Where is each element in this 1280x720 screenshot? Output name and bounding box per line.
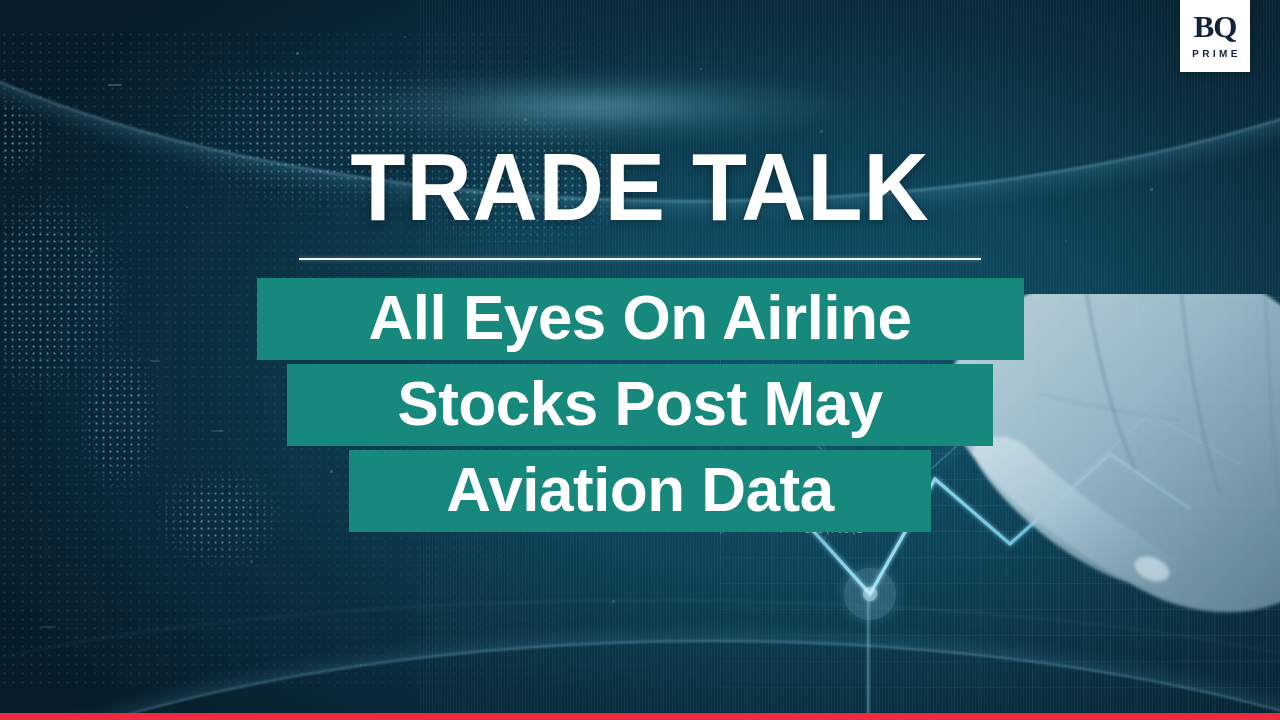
headline-line-3: Aviation Data <box>349 450 931 532</box>
headline-line-2: Stocks Post May <box>287 364 993 446</box>
headline-line-1: All Eyes On Airline <box>257 278 1024 360</box>
bq-prime-logo-subtext: PRIME <box>1192 49 1241 61</box>
bq-prime-logo-mark: BQ <box>1194 12 1237 42</box>
glow-arc-top-highlight <box>330 72 850 142</box>
trade-talk-title-card: 2.880 + ▲ 088.327,8+ ▲ 2,804,821 - ▼ TRA… <box>0 0 1280 720</box>
bq-prime-logo: BQ PRIME <box>1180 0 1250 72</box>
title-divider-rule <box>299 258 981 260</box>
headline-bands: All Eyes On Airline Stocks Post May Avia… <box>0 278 1280 532</box>
bottom-accent-bar <box>0 713 1280 720</box>
show-title: TRADE TALK <box>38 140 1241 236</box>
